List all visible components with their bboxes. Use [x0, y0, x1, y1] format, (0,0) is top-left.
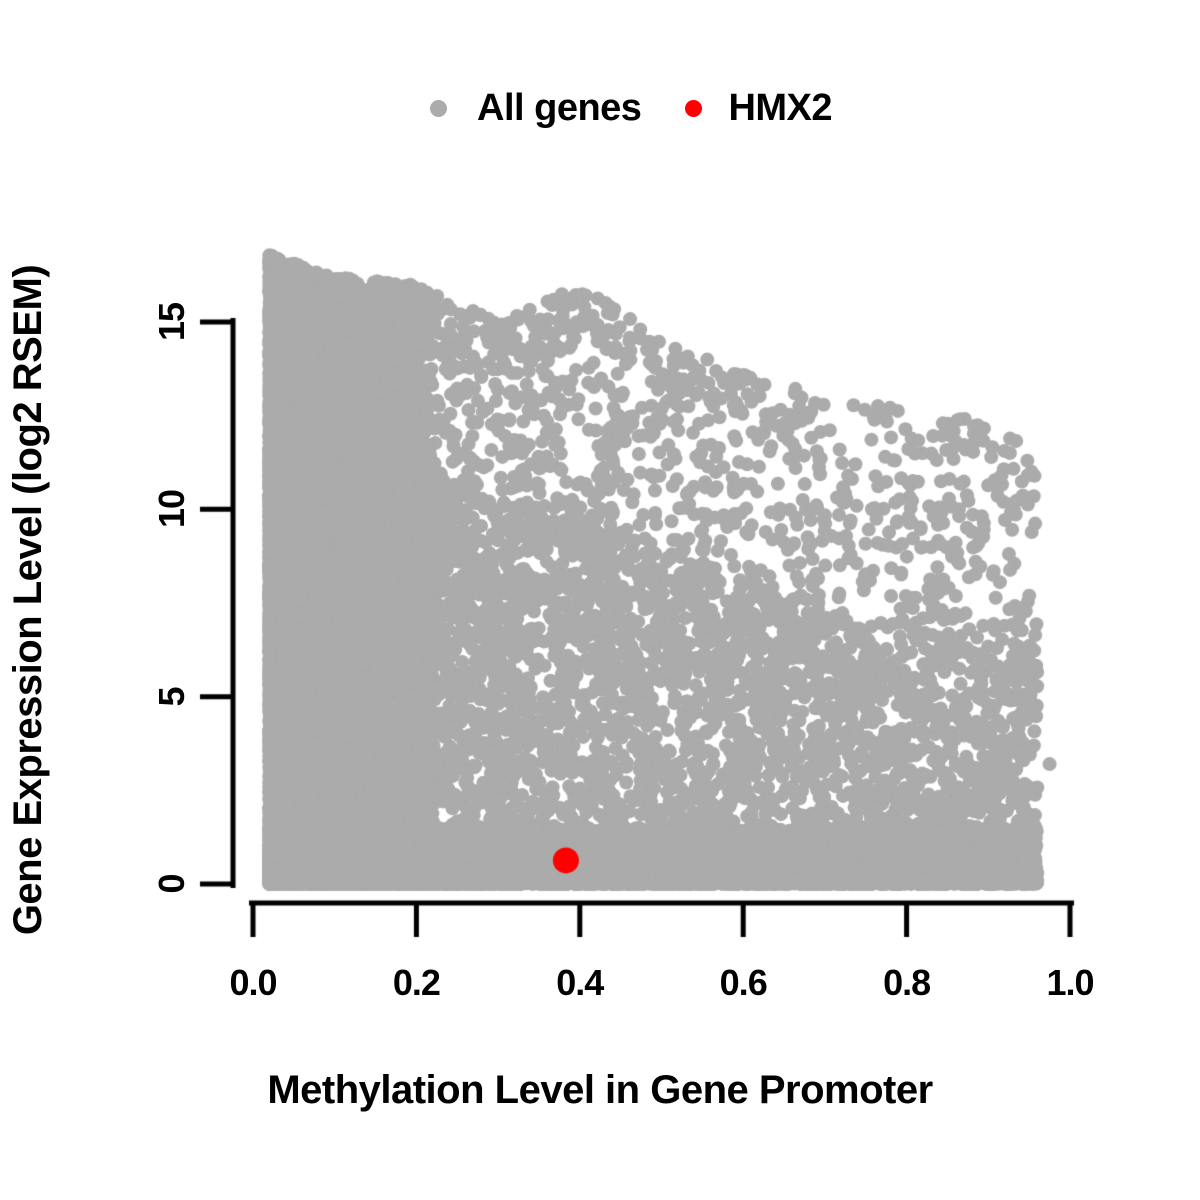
legend-marker-hmx2-icon	[685, 100, 702, 117]
legend-marker-all-genes-icon	[430, 100, 447, 117]
y-tick-label-1: 5	[151, 687, 193, 706]
x-axis-title: Methylation Level in Gene Promoter	[0, 1068, 1200, 1113]
scatter-plot-canvas	[0, 0, 1200, 1200]
scatter-plot-figure: All genes HMX2 Methylation Level in Gene…	[0, 0, 1200, 1200]
x-tick-label-4: 0.8	[883, 962, 930, 1004]
x-tick-label-1: 0.2	[393, 962, 440, 1004]
legend-label-hmx2: HMX2	[728, 87, 832, 130]
plot-legend: All genes HMX2	[430, 78, 832, 138]
x-tick-label-2: 0.4	[556, 962, 603, 1004]
y-tick-label-3: 15	[151, 303, 193, 341]
legend-item-all-genes: All genes	[430, 87, 641, 130]
y-axis-title: Gene Expression Level (log2 RSEM)	[0, 0, 56, 1200]
y-tick-label-2: 10	[151, 490, 193, 528]
y-tick-label-0: 0	[151, 874, 193, 893]
x-tick-label-3: 0.6	[720, 962, 767, 1004]
x-tick-label-5: 1.0	[1046, 962, 1093, 1004]
legend-item-hmx2: HMX2	[685, 87, 832, 130]
x-tick-label-0: 0.0	[229, 962, 276, 1004]
legend-label-all-genes: All genes	[477, 87, 641, 130]
